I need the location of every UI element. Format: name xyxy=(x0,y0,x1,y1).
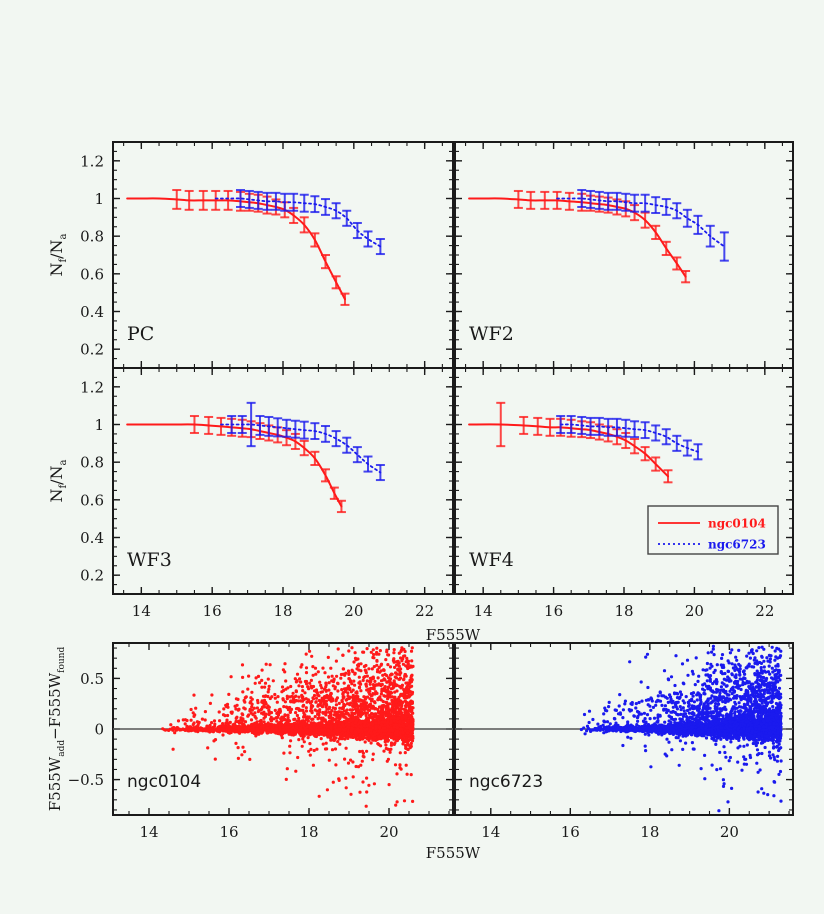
scatter-point xyxy=(216,729,219,732)
scatter-point xyxy=(294,677,297,680)
scatter-point xyxy=(384,743,387,746)
scatter-point xyxy=(164,729,167,732)
scatter-point xyxy=(350,730,353,733)
scatter-point xyxy=(289,685,292,688)
scatter-point xyxy=(352,775,355,778)
scatter-point xyxy=(232,729,235,732)
scatter-point xyxy=(313,734,316,737)
scatter-point xyxy=(317,713,320,716)
scatter-point xyxy=(247,675,250,678)
scatter-point xyxy=(233,726,236,729)
scatter-point xyxy=(265,663,268,666)
scatter-point xyxy=(290,723,293,726)
scatter-point xyxy=(339,677,342,680)
scatter-point xyxy=(341,713,344,716)
scatter-point xyxy=(389,665,392,668)
scatter-point xyxy=(237,708,240,711)
scatter-point xyxy=(348,677,351,680)
scatter-point xyxy=(226,714,229,717)
scatter-point xyxy=(385,681,388,684)
scatter-point xyxy=(405,696,408,699)
scatter-point xyxy=(390,720,393,723)
scatter-point xyxy=(404,664,407,667)
x-tick-label: 16 xyxy=(544,602,563,620)
scatter-point xyxy=(365,701,368,704)
x-tick-label: 16 xyxy=(203,602,222,620)
scatter-point xyxy=(392,651,395,654)
scatter-point xyxy=(335,675,338,678)
scatter-point xyxy=(305,653,308,656)
scatter-point xyxy=(390,744,393,747)
scatter-point xyxy=(364,740,367,743)
scatter-point xyxy=(241,663,244,666)
scatter-point xyxy=(222,724,225,727)
scatter-point xyxy=(393,735,396,738)
scatter-point xyxy=(392,657,395,660)
scatter-point xyxy=(398,766,401,769)
scatter-point xyxy=(294,770,297,773)
scatter-point xyxy=(350,646,353,649)
scatter-point xyxy=(278,724,281,727)
scatter-point xyxy=(361,735,364,738)
scatter-point xyxy=(399,728,402,731)
scatter-point xyxy=(385,674,388,677)
panel-wf2-title: WF2 xyxy=(469,323,514,345)
scatter-point xyxy=(284,679,287,682)
scatter-point xyxy=(335,660,338,663)
scatter-point xyxy=(354,672,357,675)
scatter-point xyxy=(396,800,399,803)
scatter-point xyxy=(403,711,406,714)
scatter-point xyxy=(388,783,391,786)
scatter-point xyxy=(384,740,387,743)
scatter-point xyxy=(367,784,370,787)
scatter-point xyxy=(358,676,361,679)
scatter-point xyxy=(297,717,300,720)
scatter-point xyxy=(333,739,336,742)
scatter-point xyxy=(394,763,397,766)
scatter-point xyxy=(322,697,325,700)
scatter-point xyxy=(301,745,304,748)
scatter-point xyxy=(310,718,313,721)
scatter-point xyxy=(222,707,225,710)
scatter-point xyxy=(371,698,374,701)
scatter-point xyxy=(167,729,170,732)
scatter-point xyxy=(342,728,345,731)
scatter-point xyxy=(367,688,370,691)
scatter-point xyxy=(291,700,294,703)
scatter-point xyxy=(405,657,408,660)
scatter-point xyxy=(331,748,334,751)
scatter-point xyxy=(411,800,414,803)
scatter-point xyxy=(329,692,332,695)
scatter-point xyxy=(399,751,402,754)
scatter-point xyxy=(276,716,279,719)
scatter-point xyxy=(192,715,195,718)
y-tick-label: 1.2 xyxy=(80,378,104,396)
scatter-point xyxy=(192,694,195,697)
scatter-point xyxy=(177,719,180,722)
scatter-point xyxy=(223,728,226,731)
scatter-point xyxy=(324,685,327,688)
scatter-point xyxy=(406,773,409,776)
panel-pc-frame xyxy=(113,142,453,368)
scatter-point xyxy=(377,721,380,724)
scatter-point xyxy=(331,675,334,678)
scatter-point xyxy=(303,714,306,717)
scatter-point xyxy=(210,693,213,696)
scatter-point xyxy=(262,717,265,720)
scatter-point xyxy=(213,719,216,722)
scatter-point xyxy=(399,693,402,696)
scatter-point xyxy=(407,688,410,691)
scatter-point xyxy=(266,731,269,734)
scatter-point xyxy=(268,706,271,709)
scatter-point xyxy=(310,705,313,708)
scatter-point xyxy=(398,708,401,711)
scatter-point xyxy=(375,659,378,662)
panel-wf4-title: WF4 xyxy=(469,549,514,571)
scatter-point xyxy=(352,705,355,708)
panel-wf4-series-ngc0104 xyxy=(469,403,672,482)
scatter-point xyxy=(325,742,328,745)
scatter-point xyxy=(313,749,316,752)
scatter-point xyxy=(290,733,293,736)
scatter-point xyxy=(262,713,265,716)
x-tick-label: 20 xyxy=(685,602,704,620)
scatter-point xyxy=(194,707,197,710)
scatter-point xyxy=(315,731,318,734)
x-tick-label: 20 xyxy=(344,602,363,620)
x-tick-label: 18 xyxy=(273,602,292,620)
scatter-point xyxy=(372,753,375,756)
scatter-point xyxy=(352,697,355,700)
scatter-point xyxy=(354,651,357,654)
scatter-point xyxy=(358,713,361,716)
scatter-point xyxy=(317,670,320,673)
scatter-point xyxy=(336,682,339,685)
scatter-point xyxy=(283,670,286,673)
scatter-point xyxy=(273,693,276,696)
scatter-point xyxy=(409,693,412,696)
scatter-point xyxy=(399,667,402,670)
scatter-point xyxy=(243,701,246,704)
y-tick-label: 1 xyxy=(94,190,104,208)
scatter-point xyxy=(284,688,287,691)
panel-wf3-series-ngc0104 xyxy=(127,416,346,512)
scatter-point xyxy=(343,758,346,761)
scatter-point xyxy=(355,692,358,695)
scatter-point xyxy=(267,690,270,693)
scatter-point xyxy=(383,720,386,723)
scatter-point xyxy=(314,715,317,718)
scatter-point xyxy=(297,738,300,741)
scatter-point xyxy=(328,706,331,709)
scatter-point xyxy=(334,747,337,750)
scatter-point xyxy=(310,655,313,658)
scatter-point xyxy=(301,737,304,740)
panel-resid-ngc0104: ngc0104−0.500.514161820 xyxy=(68,643,453,841)
y-tick-label: 0.6 xyxy=(80,491,104,509)
scatter-point xyxy=(375,647,378,650)
scatter-point xyxy=(379,717,382,720)
scatter-point xyxy=(411,712,414,715)
scatter-point xyxy=(304,680,307,683)
scatter-point xyxy=(260,707,263,710)
scatter-point xyxy=(280,716,283,719)
scatter-point xyxy=(201,718,204,721)
scatter-point xyxy=(365,683,368,686)
scatter-point xyxy=(308,715,311,718)
scatter-point xyxy=(305,718,308,721)
scatter-point xyxy=(288,751,291,754)
scatter-point xyxy=(365,671,368,674)
scatter-point xyxy=(190,708,193,711)
scatter-point xyxy=(328,759,331,762)
scatter-point xyxy=(405,723,408,726)
y-tick-label: 0.4 xyxy=(80,303,104,321)
scatter-point xyxy=(385,747,388,750)
scatter-point xyxy=(365,750,368,753)
scatter-point xyxy=(307,700,310,703)
scatter-point xyxy=(256,701,259,704)
scatter-point xyxy=(388,748,391,751)
scatter-point xyxy=(395,723,398,726)
scatter-point xyxy=(353,730,356,733)
scatter-point xyxy=(395,772,398,775)
scatter-point xyxy=(399,720,402,723)
scatter-point xyxy=(410,742,413,745)
scatter-point xyxy=(327,656,330,659)
scatter-point xyxy=(268,713,271,716)
scatter-point xyxy=(393,743,396,746)
scatter-point xyxy=(375,653,378,656)
scatter-point xyxy=(258,681,261,684)
scatter-point xyxy=(409,738,412,741)
scatter-point xyxy=(361,760,364,763)
scatter-point xyxy=(402,708,405,711)
scatter-point xyxy=(343,704,346,707)
scatter-point xyxy=(243,750,246,753)
scatter-point xyxy=(403,799,406,802)
y-tick-label: 0.8 xyxy=(80,454,104,472)
scatter-point xyxy=(289,739,292,742)
scatter-point xyxy=(320,686,323,689)
x-tick-label: 22 xyxy=(415,602,434,620)
scatter-point xyxy=(316,691,319,694)
scatter-point xyxy=(372,739,375,742)
scatter-point xyxy=(393,696,396,699)
scatter-point xyxy=(394,675,397,678)
scatter-point xyxy=(241,717,244,720)
scatter-point xyxy=(345,786,348,789)
scatter-point xyxy=(386,663,389,666)
scatter-point xyxy=(246,715,249,718)
scatter-point xyxy=(407,719,410,722)
scatter-point xyxy=(410,773,413,776)
scatter-point xyxy=(392,711,395,714)
scatter-point xyxy=(274,697,277,700)
scatter-point xyxy=(402,731,405,734)
scatter-point xyxy=(288,745,291,748)
scatter-point xyxy=(391,673,394,676)
scatter-point xyxy=(321,667,324,670)
scatter-point xyxy=(318,710,321,713)
scatter-point xyxy=(333,710,336,713)
scatter-point xyxy=(171,726,174,729)
scatter-point xyxy=(377,676,380,679)
scatter-point xyxy=(312,685,315,688)
scatter-point xyxy=(355,697,358,700)
scatter-point xyxy=(320,737,323,740)
scatter-point xyxy=(386,688,389,691)
scatter-point xyxy=(333,678,336,681)
scatter-point xyxy=(172,748,175,751)
scatter-point xyxy=(267,678,270,681)
scatter-point xyxy=(357,681,360,684)
scatter-point xyxy=(305,706,308,709)
scatter-point xyxy=(383,727,386,730)
scatter-point xyxy=(362,695,365,698)
scatter-point xyxy=(373,680,376,683)
scatter-point xyxy=(348,687,351,690)
scatter-point xyxy=(329,667,332,670)
scatter-point xyxy=(382,694,385,697)
scatter-point xyxy=(334,763,337,766)
y-tick-label: 0.4 xyxy=(80,529,104,547)
scatter-point xyxy=(238,725,241,728)
scatter-point xyxy=(248,727,251,730)
scatter-point xyxy=(365,712,368,715)
scatter-point xyxy=(360,726,363,729)
scatter-point xyxy=(326,788,329,791)
scatter-point xyxy=(307,750,310,753)
scatter-point xyxy=(278,708,281,711)
scatter-point xyxy=(316,694,319,697)
scatter-point xyxy=(314,667,317,670)
scatter-point xyxy=(403,675,406,678)
scatter-point xyxy=(406,681,409,684)
scatter-point xyxy=(234,742,237,745)
scatter-point xyxy=(281,697,284,700)
scatter-point xyxy=(241,721,244,724)
scatter-point xyxy=(250,691,253,694)
scatter-point xyxy=(384,685,387,688)
scatter-point xyxy=(190,719,193,722)
scatter-point xyxy=(399,677,402,680)
scatter-point xyxy=(305,709,308,712)
scatter-point xyxy=(192,711,195,714)
scatter-point xyxy=(367,667,370,670)
scatter-point xyxy=(327,675,330,678)
scatter-point xyxy=(305,671,308,674)
scatter-point xyxy=(377,743,380,746)
scatter-point xyxy=(350,711,353,714)
scatter-point xyxy=(296,714,299,717)
scatter-point xyxy=(386,737,389,740)
scatter-point xyxy=(318,681,321,684)
scatter-point xyxy=(404,650,407,653)
scatter-point xyxy=(393,648,396,651)
scatter-point xyxy=(384,658,387,661)
scatter-point xyxy=(326,725,329,728)
scatter-point xyxy=(373,782,376,785)
scatter-point xyxy=(352,694,355,697)
scatter-point xyxy=(254,715,257,718)
scatter-point xyxy=(237,746,240,749)
scatter-point xyxy=(338,702,341,705)
scatter-point xyxy=(342,695,345,698)
scatter-point xyxy=(270,695,273,698)
scatter-point xyxy=(235,697,238,700)
scatter-point xyxy=(395,689,398,692)
scatter-point xyxy=(263,720,266,723)
scatter-point xyxy=(398,763,401,766)
panel-wf2-series-ngc6723 xyxy=(557,190,729,261)
scatter-point xyxy=(387,758,390,761)
scatter-point xyxy=(371,667,374,670)
scatter-point xyxy=(405,703,408,706)
scatter-point xyxy=(255,676,258,679)
scatter-point xyxy=(397,698,400,701)
scatter-point xyxy=(401,724,404,727)
scatter-point xyxy=(337,777,340,780)
scatter-point xyxy=(386,724,389,727)
scatter-point xyxy=(310,709,313,712)
panel-wf2: WF2 xyxy=(455,142,793,368)
scatter-point xyxy=(380,664,383,667)
scatter-point xyxy=(308,742,311,745)
scatter-point xyxy=(358,791,361,794)
scatter-point xyxy=(347,649,350,652)
scatter-point xyxy=(286,714,289,717)
scatter-point xyxy=(315,697,318,700)
scatter-point xyxy=(268,685,271,688)
scatter-point xyxy=(241,746,244,749)
scatter-point xyxy=(303,734,306,737)
scatter-point xyxy=(396,668,399,671)
x-tick-label: 18 xyxy=(614,602,633,620)
scatter-point xyxy=(292,718,295,721)
scatter-point xyxy=(385,650,388,653)
scatter-point xyxy=(372,653,375,656)
scatter-point xyxy=(404,747,407,750)
scatter-point xyxy=(297,684,300,687)
scatter-point xyxy=(286,767,289,770)
scatter-point xyxy=(338,743,341,746)
scatter-point xyxy=(352,680,355,683)
scatter-point xyxy=(253,707,256,710)
scatter-point xyxy=(339,716,342,719)
scatter-point xyxy=(305,666,308,669)
scatter-point xyxy=(206,746,209,749)
scatter-point xyxy=(393,679,396,682)
scatter-point xyxy=(330,732,333,735)
figure-canvas: PC0.20.40.60.811.2WF2WF30.20.40.60.811.2… xyxy=(0,0,824,914)
scatter-point xyxy=(310,679,313,682)
scatter-point xyxy=(331,697,334,700)
scatter-point xyxy=(328,715,331,718)
scatter-point xyxy=(407,662,410,665)
scatter-point xyxy=(404,751,407,754)
scatter-point xyxy=(372,648,375,651)
scatter-point xyxy=(297,696,300,699)
scatter-point xyxy=(357,730,360,733)
scatter-point xyxy=(296,756,299,759)
scatter-point xyxy=(311,696,314,699)
y-tick-label: 0.8 xyxy=(80,228,104,246)
scatter-point xyxy=(310,700,313,703)
